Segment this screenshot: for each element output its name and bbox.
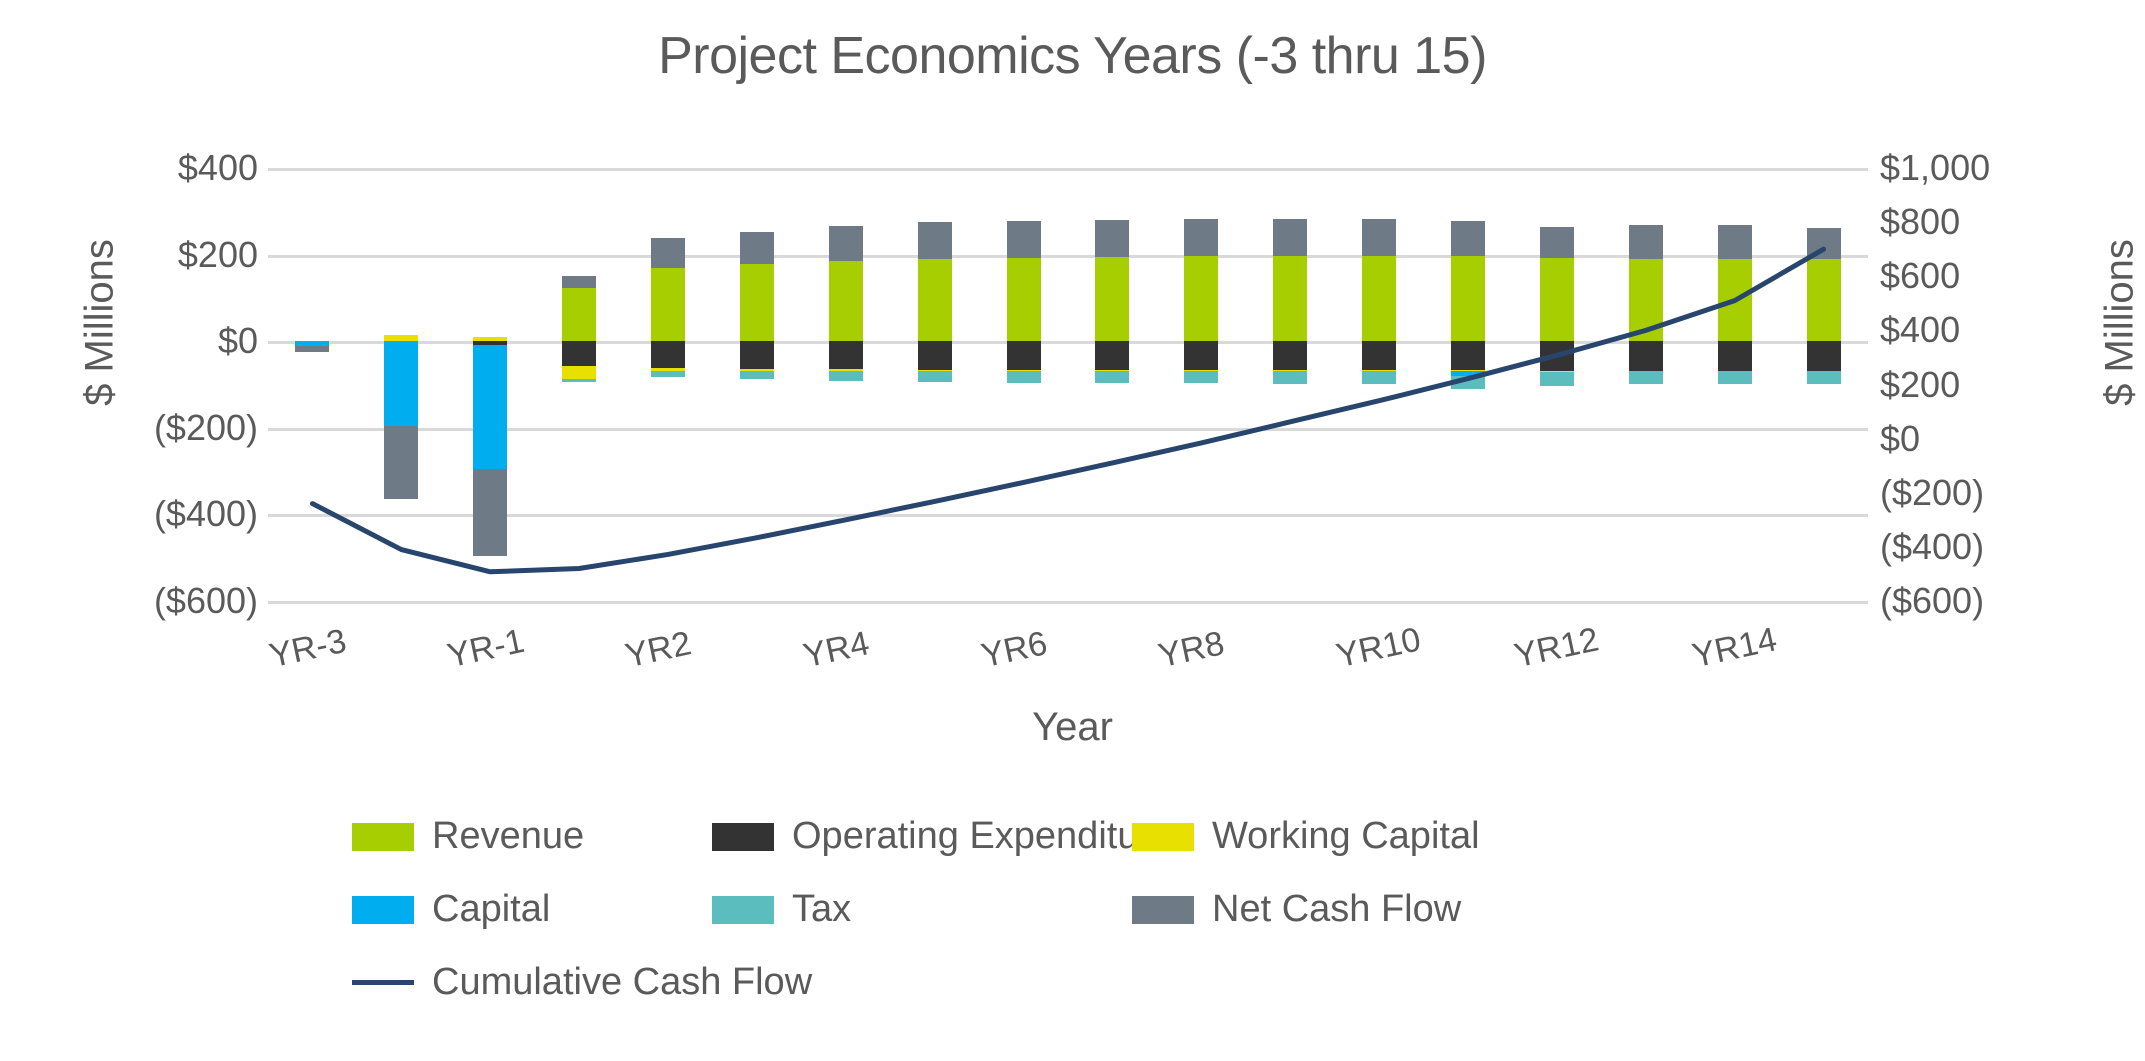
y-axis-right-tick-label: $600 (1880, 255, 1960, 297)
y-axis-right-tick-label: ($200) (1880, 472, 1984, 514)
legend-swatch-icon (352, 823, 414, 851)
x-axis-tick-label: YR-1 (444, 622, 528, 676)
cumulative-cash-flow-line[interactable] (312, 249, 1823, 572)
legend-swatch-icon (1132, 896, 1194, 924)
legend-item[interactable]: Net Cash Flow (1132, 888, 1552, 931)
y-axis-left-tick-label: $200 (178, 234, 258, 276)
gridline (268, 601, 1868, 604)
x-axis-ticks: YR-3YR-1YR2YR4YR6YR8YR10YR12YR14 (268, 638, 1868, 698)
legend-item[interactable]: Operating Expenditure (712, 815, 1132, 858)
legend-item[interactable]: Revenue (352, 815, 712, 858)
x-axis-title: Year (0, 705, 2145, 750)
y-axis-left-tick-label: ($400) (154, 493, 258, 535)
legend-label: Revenue (432, 815, 584, 858)
legend-swatch-icon (712, 896, 774, 924)
legend-swatch-icon (712, 823, 774, 851)
cumulative-line-layer (268, 168, 1868, 601)
y-axis-left-tick-label: $400 (178, 147, 258, 189)
legend-label: Operating Expenditure (792, 815, 1172, 858)
legend-row: CapitalTaxNet Cash Flow (352, 888, 1752, 931)
legend-item[interactable]: Tax (712, 888, 1132, 931)
legend-item[interactable]: Capital (352, 888, 712, 931)
y-axis-right-tick-label: ($600) (1880, 580, 1984, 622)
y-axis-title-right: $ Millions (2098, 213, 2143, 433)
x-axis-tick-label: YR12 (1511, 620, 1602, 676)
legend-row: RevenueOperating ExpenditureWorking Capi… (352, 815, 1752, 858)
y-axis-right-tick-label: ($400) (1880, 526, 1984, 568)
x-axis-tick-label: YR14 (1689, 620, 1780, 676)
y-axis-left-tick-label: ($200) (154, 407, 258, 449)
y-axis-left-ticks: $400$200$0($200)($400)($600) (0, 168, 258, 601)
x-axis-tick-label: YR4 (800, 624, 873, 676)
legend-label: Net Cash Flow (1212, 888, 1461, 931)
y-axis-right-tick-label: $400 (1880, 309, 1960, 351)
legend-line-icon (352, 980, 414, 985)
y-axis-right-ticks: $1,000$800$600$400$200$0($200)($400)($60… (1880, 168, 2080, 601)
y-axis-left-tick-label: ($600) (154, 580, 258, 622)
plot-area (268, 168, 1868, 601)
chart-legend: RevenueOperating ExpenditureWorking Capi… (352, 815, 1752, 1034)
legend-label: Capital (432, 888, 550, 931)
x-axis-tick-label: YR6 (978, 624, 1051, 676)
chart-container: Project Economics Years (-3 thru 15) $ M… (0, 0, 2145, 1061)
chart-title: Project Economics Years (-3 thru 15) (0, 26, 2145, 86)
y-axis-left-tick-label: $0 (218, 320, 258, 362)
y-axis-right-tick-label: $800 (1880, 201, 1960, 243)
legend-row: Cumulative Cash Flow (352, 961, 1752, 1004)
legend-item[interactable]: Cumulative Cash Flow (352, 961, 712, 1004)
legend-swatch-icon (352, 896, 414, 924)
y-axis-right-tick-label: $0 (1880, 418, 1920, 460)
y-axis-right-tick-label: $1,000 (1880, 147, 1990, 189)
x-axis-tick-label: YR2 (622, 624, 695, 676)
y-axis-right-tick-label: $200 (1880, 364, 1960, 406)
legend-label: Cumulative Cash Flow (432, 961, 812, 1004)
legend-item[interactable]: Working Capital (1132, 815, 1552, 858)
x-axis-tick-label: YR-3 (266, 622, 350, 676)
legend-label: Tax (792, 888, 851, 931)
x-axis-tick-label: YR8 (1155, 624, 1228, 676)
x-axis-tick-label: YR10 (1333, 620, 1424, 676)
legend-swatch-icon (1132, 823, 1194, 851)
legend-label: Working Capital (1212, 815, 1480, 858)
